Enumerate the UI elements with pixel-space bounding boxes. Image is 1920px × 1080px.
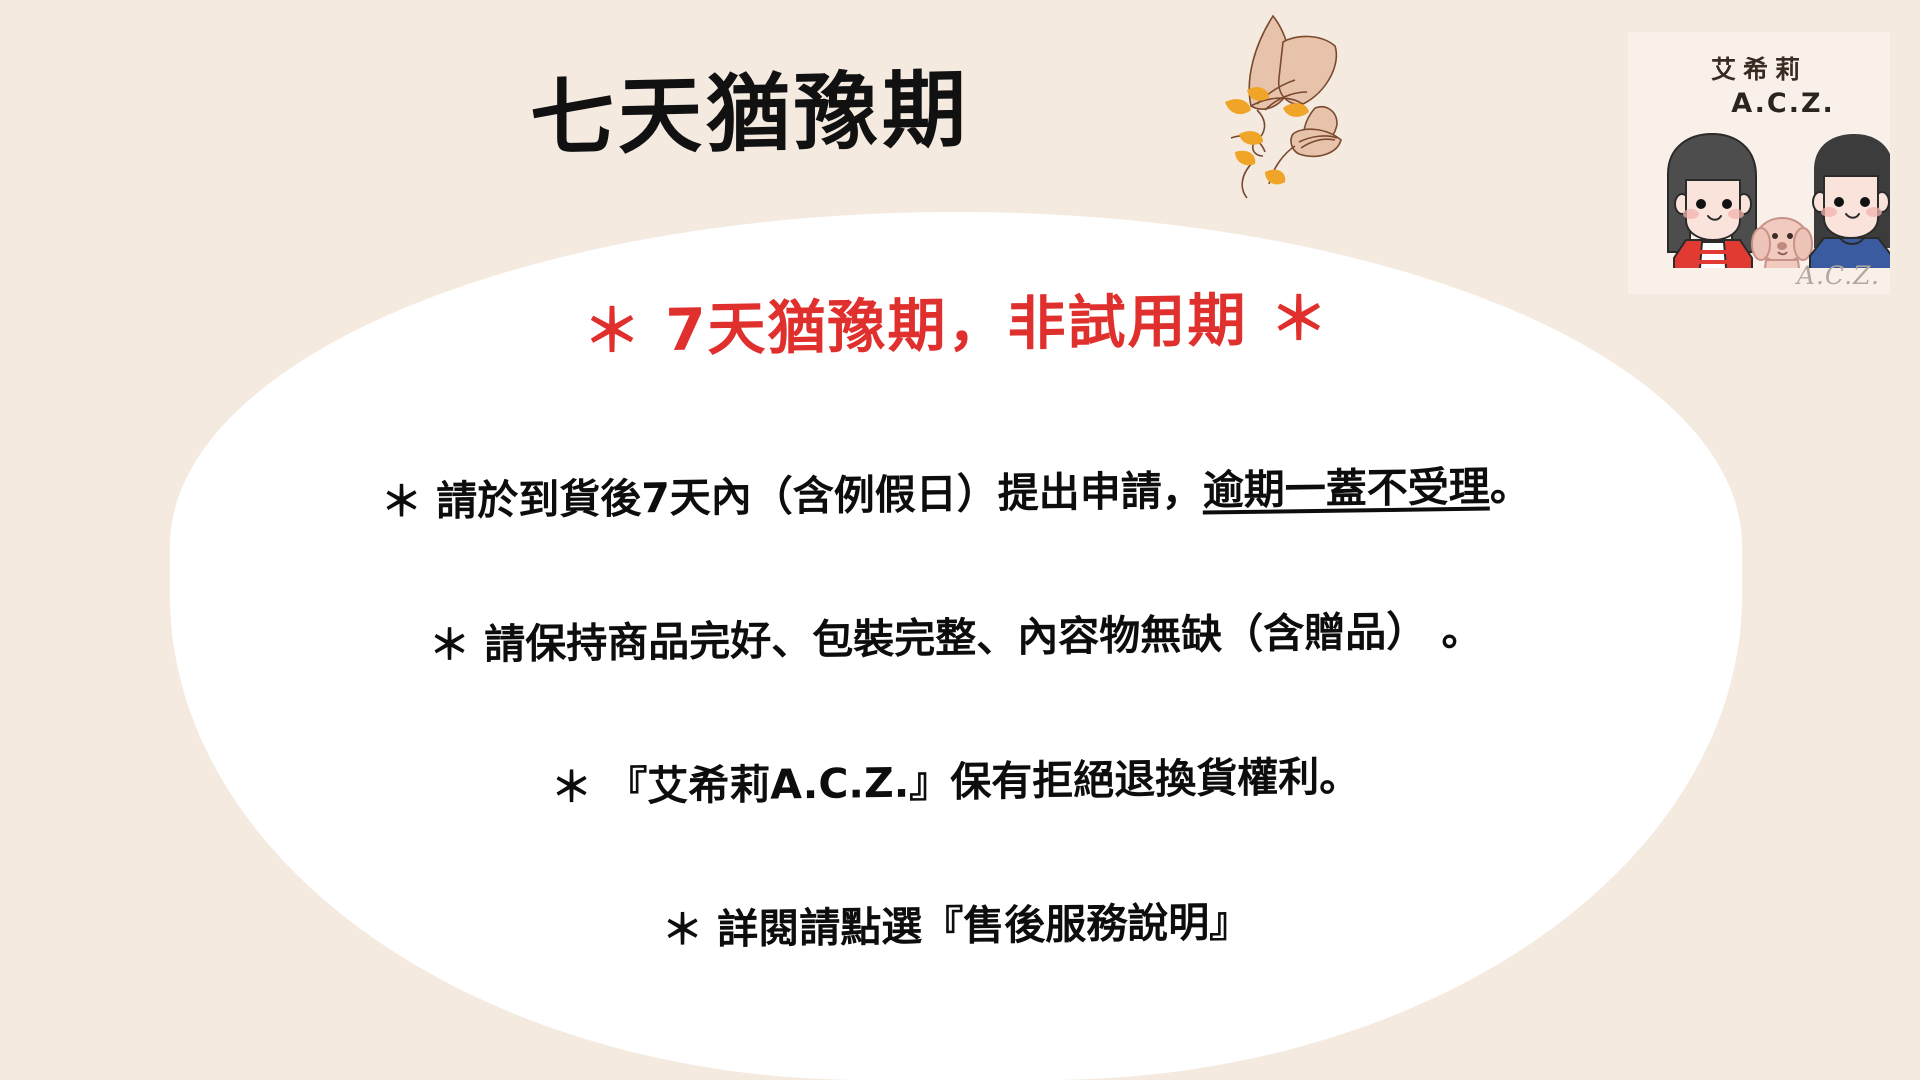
brand-name-chinese: 艾希莉 [1628,50,1890,86]
policy-line-4: ＊ 詳閱請點選『售後服務說明』 [662,888,1250,956]
page-title-wrap: 七天猶豫期 [0,72,1500,156]
policy-line-3: ＊ 『艾希莉A.C.Z.』保有拒絕退換貨權利。 [551,742,1360,813]
policy-line-1-prefix: ＊ 請於到貨後7天內（含例假日）提出申請， [381,467,1203,526]
brand-signature: A.C.Z. [1797,261,1880,290]
brand-name-latin: A.C.Z. [1628,88,1890,119]
policy-line-1: ＊ 請於到貨後7天內（含例假日）提出申請，逾期一蓋不受理。 [381,452,1531,528]
page-title: 七天猶豫期 [530,67,970,160]
policy-line-1-underlined: 逾期一蓋不受理 [1203,463,1490,515]
policy-line-1-suffix: 。 [1490,462,1531,511]
card-content: ＊ 7天猶豫期，非試用期 ＊ ＊ 請於到貨後7天內（含例假日）提出申請，逾期一蓋… [170,212,1742,1080]
page-root: 七天猶豫期 [0,0,1920,1080]
policy-line-2: ＊ 請保持商品完好、包裝完整、內容物無缺（含贈品） 。 [429,597,1483,672]
headline-notice: ＊ 7天猶豫期，非試用期 ＊ [583,271,1330,368]
